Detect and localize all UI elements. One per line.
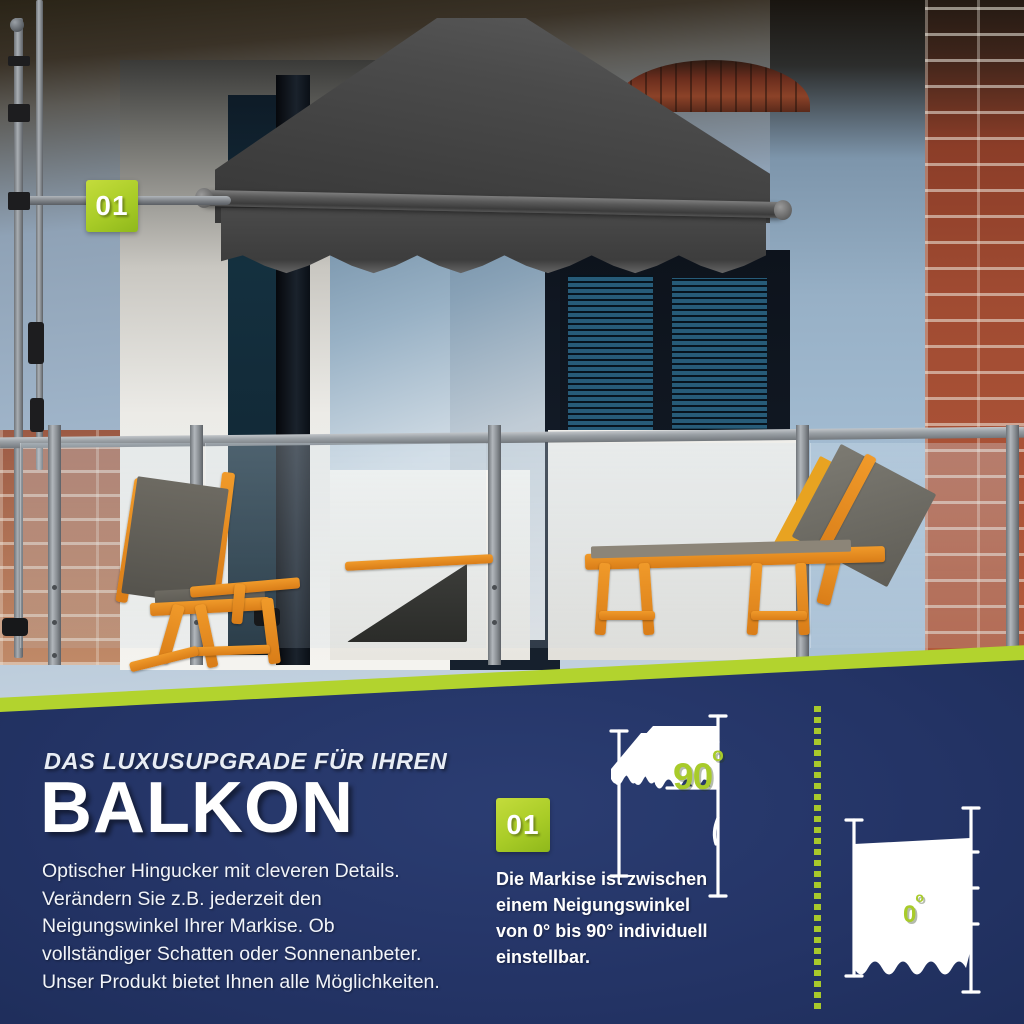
awning-clamp-top <box>8 56 30 66</box>
angle-0-value: 0 <box>903 901 915 928</box>
product-poster: 01 DAS LUXUSUPGRADE FÜR IHREN BALKON Opt… <box>0 0 1024 1024</box>
illustration-awning-90deg <box>605 706 815 916</box>
awning-clamp-lower <box>8 192 30 210</box>
photo-step-badge-label: 01 <box>95 190 128 222</box>
photo-step-badge-01[interactable]: 01 <box>86 180 138 232</box>
angle-0-unit: o <box>915 889 923 905</box>
awning-clamp-mid <box>8 104 30 122</box>
panel-headline: BALKON <box>40 772 560 844</box>
dotted-separator <box>814 706 821 1012</box>
awning-assembly <box>215 18 770 258</box>
panel-body-text: Optischer Hingucker mit cleveren Details… <box>42 858 442 996</box>
feature-step-badge-01[interactable]: 01 <box>496 798 550 852</box>
balcony-photo: 01 <box>0 0 1024 700</box>
illustration-angle-0-label: 0o <box>903 900 923 929</box>
angle-90-unit: o <box>712 745 723 766</box>
angle-90-value: 90 <box>673 756 712 797</box>
awning-pole-cap <box>10 18 24 32</box>
illustration-awning-0deg <box>840 796 1024 1021</box>
feature-step-badge-label: 01 <box>506 809 539 841</box>
awning-crank-handle <box>30 398 44 432</box>
illustration-angle-90-label: 90o <box>673 756 723 798</box>
awning-crank-holder <box>28 322 44 364</box>
